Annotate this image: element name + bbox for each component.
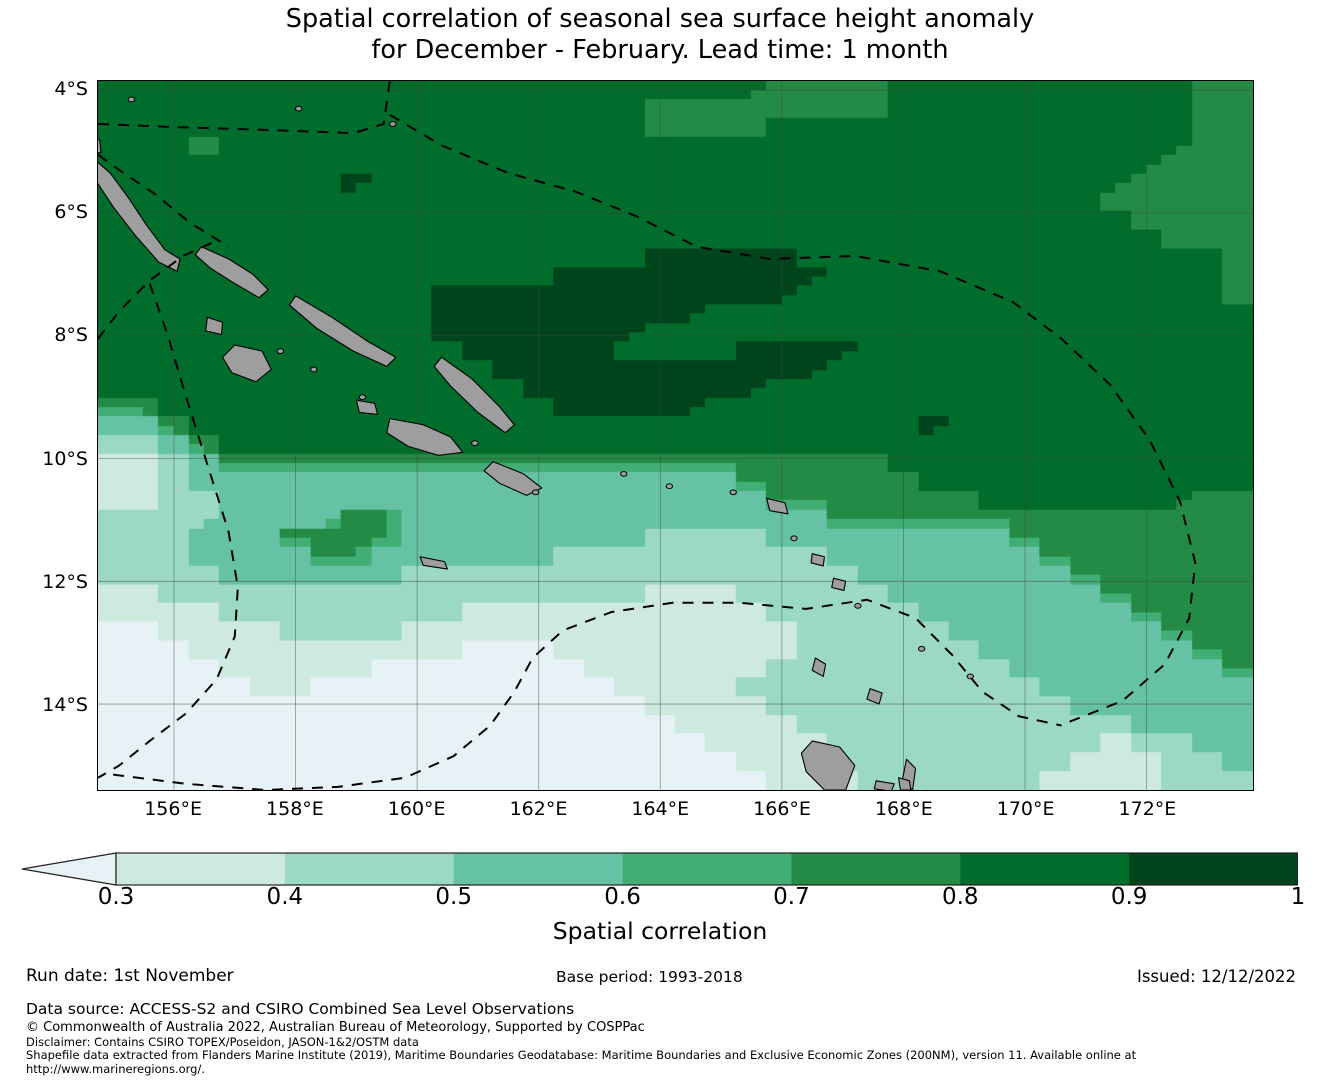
copyright-line: © Commonwealth of Australia 2022, Austra… [26,1020,1306,1036]
colorbar-band-4 [791,853,960,885]
longitude-tick-158E: 158°E [266,798,324,820]
chart-title: Spatial correlation of seasonal sea surf… [0,4,1320,66]
latitude-tick-8S: 8°S [54,324,88,346]
longitude-tick-170E: 170°E [997,798,1055,820]
longitude-tick-156E: 156°E [144,798,202,820]
run-date-label: Run date: 1st November [26,966,234,986]
disclaimer-line: Disclaimer: Contains CSIRO TOPEX/Poseido… [26,1036,1306,1050]
latitude-tick-12S: 12°S [42,571,88,593]
colorbar-tick-0-8: 0.8 [942,884,979,910]
title-line-2: for December - February. Lead time: 1 mo… [0,35,1320,66]
metadata-row: Run date: 1st November Base period: 1993… [0,966,1320,990]
colorbar-swatches [22,851,1298,887]
colorbar-band-3 [623,853,792,885]
map-plot-area[interactable] [97,80,1254,791]
data-source-line: Data source: ACCESS-S2 and CSIRO Combine… [26,1000,1306,1020]
colorbar-tick-1: 1 [1291,884,1306,910]
latitude-tick-14S: 14°S [42,694,88,716]
latitude-tick-6S: 6°S [54,201,88,223]
colorbar-tick-0-9: 0.9 [1111,884,1148,910]
longitude-tick-164E: 164°E [631,798,689,820]
longitude-tick-162E: 162°E [510,798,568,820]
title-line-1: Spatial correlation of seasonal sea surf… [0,4,1320,35]
base-period-label: Base period: 1993-2018 [556,968,743,986]
disclaimer-block: Data source: ACCESS-S2 and CSIRO Combine… [26,1000,1306,1077]
longitude-tick-166E: 166°E [753,798,811,820]
colorbar-band-6 [1129,853,1298,885]
colorbar-band-1 [285,853,454,885]
longitude-tick-172E: 172°E [1119,798,1177,820]
latitude-tick-10S: 10°S [42,448,88,470]
issued-date-label: Issued: 12/12/2022 [1137,967,1296,986]
colorbar-band-2 [454,853,623,885]
colorbar-band-5 [960,853,1129,885]
latitude-tick-4S: 4°S [54,78,88,100]
shapefile-line: Shapefile data extracted from Flanders M… [26,1049,1306,1063]
longitude-tick-160E: 160°E [388,798,446,820]
colorbar-tick-0-5: 0.5 [435,884,472,910]
colorbar-axis-title: Spatial correlation [0,917,1320,945]
correlation-heatmap-raster [98,81,1253,790]
shapefile-url-line: http://www.marineregions.org/. [26,1063,1306,1077]
colorbar-band-0 [116,853,285,885]
colorbar-tick-0-4: 0.4 [267,884,304,910]
colorbar-extend-min-arrow [22,853,116,885]
colorbar-tick-0-7: 0.7 [773,884,810,910]
colorbar: 0.30.40.50.60.70.80.91 Spatial correlati… [0,851,1320,951]
longitude-tick-168E: 168°E [875,798,933,820]
colorbar-tick-0-6: 0.6 [604,884,641,910]
colorbar-tick-0-3: 0.3 [98,884,135,910]
